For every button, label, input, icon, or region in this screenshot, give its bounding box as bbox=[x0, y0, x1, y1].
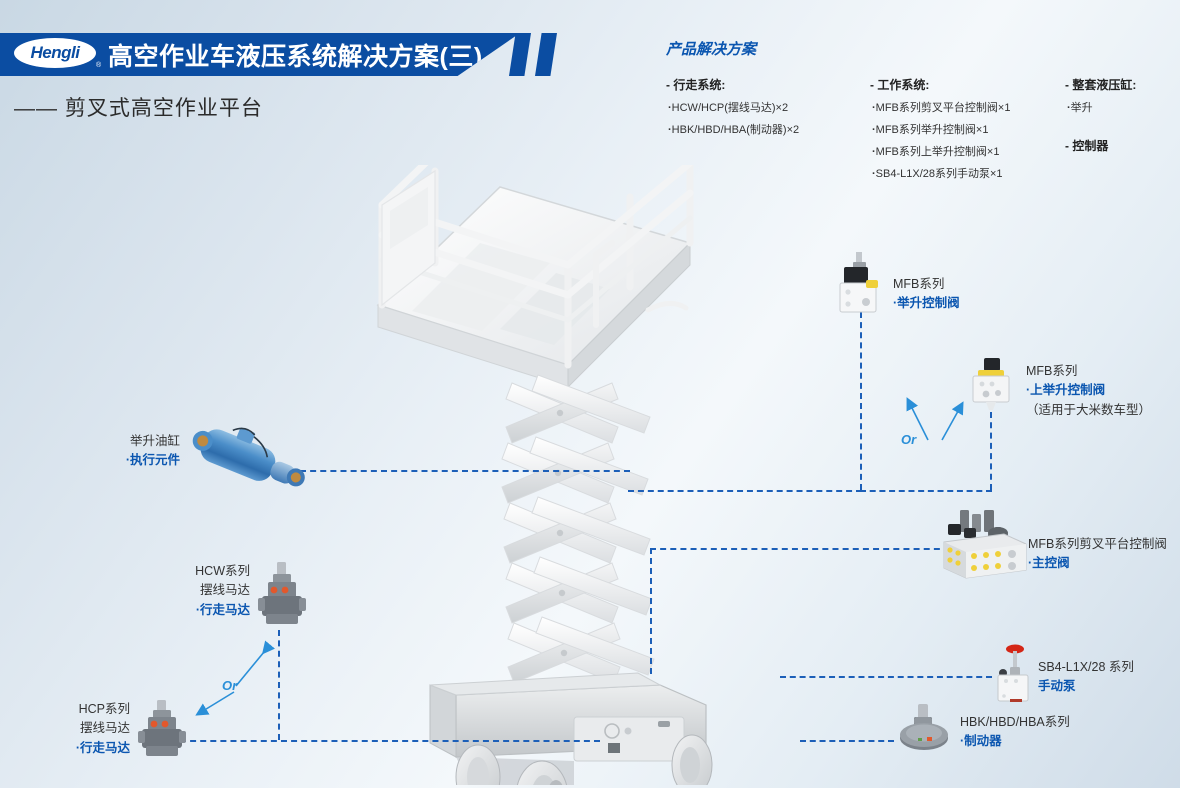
solution-heading: - 工作系统: bbox=[870, 76, 1010, 93]
callout-line: ·主控阀 bbox=[1028, 554, 1167, 573]
callout-brake: HBK/HBD/HBA系列 ·制动器 bbox=[960, 713, 1070, 752]
connector-upper-lift-valve-horizontal bbox=[860, 490, 992, 492]
callout-line: 摆线马达 bbox=[140, 581, 250, 600]
scissor-lift-illustration bbox=[360, 165, 800, 785]
lift-cylinder-image bbox=[185, 425, 315, 495]
callout-line: HCW系列 bbox=[140, 562, 250, 581]
solution-column-travel: - 行走系统: HCW/HCP(摆线马达)×2 HBK/HBD/HBA(制动器)… bbox=[666, 76, 799, 143]
connector-upper-lift-valve-vertical bbox=[990, 412, 992, 490]
hcp-motor-image bbox=[138, 700, 186, 762]
connector-lift-valve-horizontal bbox=[628, 490, 862, 492]
diagram-canvas: 高空作业车液压系统解决方案(三) Hengli ® —— 剪叉式高空作业平台 产… bbox=[0, 0, 1180, 788]
solution-item: HCW/HCP(摆线马达)×2 bbox=[666, 99, 799, 115]
mfb-upper-lift-valve-image bbox=[968, 358, 1016, 416]
solution-item: MFB系列剪叉平台控制阀×1 bbox=[870, 99, 1010, 115]
callout-line: ·行走马达 bbox=[20, 739, 130, 758]
callout-line: ·行走马达 bbox=[140, 601, 250, 620]
manual-pump-image bbox=[994, 643, 1034, 705]
banner-stripe-2 bbox=[535, 33, 557, 76]
hengli-logo: Hengli bbox=[14, 38, 96, 68]
or-label-right: Or bbox=[901, 432, 916, 447]
callout-line: MFB系列剪叉平台控制阀 bbox=[1028, 535, 1167, 554]
connector-manual-pump bbox=[780, 676, 992, 678]
connector-main-valve-vertical bbox=[650, 548, 652, 674]
callout-line: ·执行元件 bbox=[70, 451, 180, 470]
logo-text: Hengli bbox=[31, 43, 80, 63]
callout-line: 摆线马达 bbox=[20, 719, 130, 738]
solution-heading-controller: - 控制器 bbox=[1065, 137, 1136, 154]
callout-line: 举升油缸 bbox=[70, 432, 180, 451]
solution-column-cylinder: - 整套液压缸: 举升 - 控制器 bbox=[1065, 76, 1136, 154]
page-title: 高空作业车液压系统解决方案(三) bbox=[108, 37, 483, 73]
callout-line: ·上举升控制阀 bbox=[1026, 381, 1151, 400]
hcw-motor-image bbox=[258, 562, 306, 628]
callout-line: SB4-L1X/28 系列 bbox=[1038, 658, 1134, 677]
solution-item: SB4-L1X/28系列手动泵×1 bbox=[870, 165, 1010, 181]
solution-column-work: - 工作系统: MFB系列剪叉平台控制阀×1 MFB系列举升控制阀×1 MFB系… bbox=[870, 76, 1010, 187]
banner-stripe-1 bbox=[509, 33, 531, 76]
brake-image bbox=[896, 704, 952, 758]
or-label-left: Or bbox=[222, 678, 237, 693]
callout-line: MFB系列 bbox=[1026, 362, 1151, 381]
or-arrows-left bbox=[186, 644, 296, 736]
solution-item: HBK/HBD/HBA(制动器)×2 bbox=[666, 121, 799, 137]
callout-mfb-main-valve: MFB系列剪叉平台控制阀 ·主控阀 bbox=[1028, 535, 1167, 574]
solution-item: MFB系列上举升控制阀×1 bbox=[870, 143, 1010, 159]
mfb-lift-valve-image bbox=[836, 252, 884, 314]
connector-main-valve bbox=[650, 548, 950, 550]
page-subtitle: —— 剪叉式高空作业平台 bbox=[14, 92, 263, 122]
callout-hcw-motor: HCW系列 摆线马达 ·行走马达 bbox=[140, 562, 250, 620]
connector-cylinder bbox=[300, 470, 630, 472]
callout-hcp-motor: HCP系列 摆线马达 ·行走马达 bbox=[20, 700, 130, 758]
work-platform bbox=[378, 165, 690, 387]
callout-line: （适用于大米数车型） bbox=[1026, 401, 1151, 420]
connector-brake bbox=[800, 740, 894, 742]
scissor-arms bbox=[502, 375, 654, 683]
connector-lift-valve-vertical bbox=[860, 312, 862, 490]
product-solution-title: 产品解决方案 bbox=[666, 38, 756, 59]
solution-item: 举升 bbox=[1065, 99, 1136, 115]
solution-heading: - 整套液压缸: bbox=[1065, 76, 1136, 93]
solution-heading: - 行走系统: bbox=[666, 76, 799, 93]
registered-trademark-icon: ® bbox=[96, 62, 101, 69]
mfb-main-valve-image bbox=[942, 508, 1028, 580]
solution-item: MFB系列举升控制阀×1 bbox=[870, 121, 1010, 137]
callout-line: ·举升控制阀 bbox=[893, 294, 960, 313]
callout-line: HCP系列 bbox=[20, 700, 130, 719]
callout-line: MFB系列 bbox=[893, 275, 960, 294]
callout-line: 手动泵 bbox=[1038, 677, 1134, 696]
callout-lift-cylinder: 举升油缸 ·执行元件 bbox=[70, 432, 180, 471]
callout-line: HBK/HBD/HBA系列 bbox=[960, 713, 1070, 732]
callout-line: ·制动器 bbox=[960, 732, 1070, 751]
callout-mfb-upper-lift-valve: MFB系列 ·上举升控制阀 （适用于大米数车型） bbox=[1026, 362, 1151, 420]
connector-motor-horizontal bbox=[180, 740, 600, 742]
callout-mfb-lift-valve: MFB系列 ·举升控制阀 bbox=[893, 275, 960, 314]
callout-manual-pump: SB4-L1X/28 系列 手动泵 bbox=[1038, 658, 1134, 697]
